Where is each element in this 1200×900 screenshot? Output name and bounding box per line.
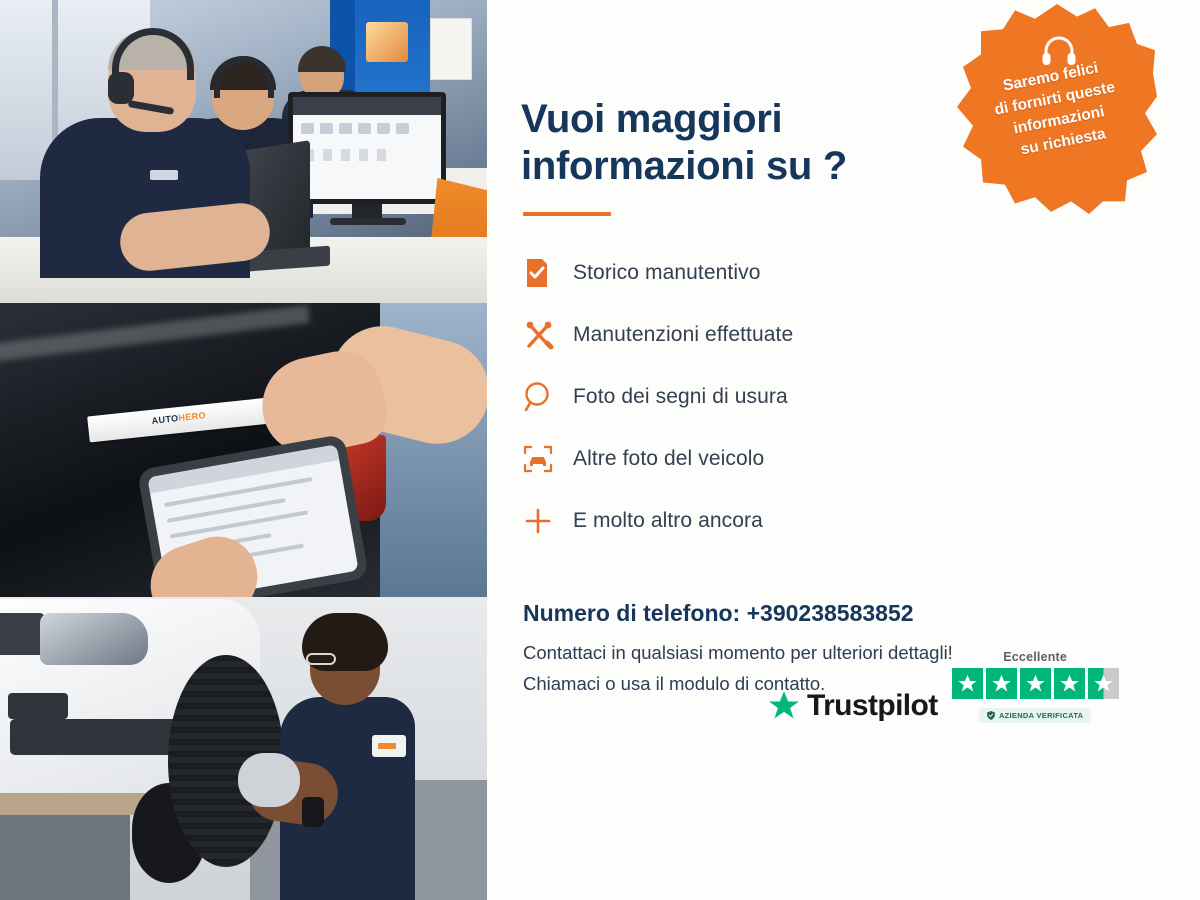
screen-icon-row-two bbox=[305, 149, 386, 161]
trustpilot-rating: Eccellente bbox=[952, 650, 1119, 723]
trustpilot-block: Trustpilot Eccellente bbox=[767, 650, 1119, 723]
car-lower-vent bbox=[8, 693, 68, 719]
poster-image bbox=[366, 22, 408, 62]
mechanic-glasses bbox=[306, 653, 336, 665]
feature-item-foto-usura: Foto dei segni di usura bbox=[523, 370, 1200, 424]
feature-item-altro: E molto altro ancora bbox=[523, 494, 1200, 548]
agent-one-shirt-logo bbox=[150, 170, 178, 180]
plus-icon bbox=[523, 506, 573, 536]
feature-item-manutenzioni: Manutenzioni effettuate bbox=[523, 308, 1200, 362]
feature-item-altre-foto: Altre foto del veicolo bbox=[523, 432, 1200, 486]
promo-page: AUTOHERO bbox=[0, 0, 1200, 900]
car-lower-grille bbox=[10, 719, 185, 755]
feature-label: Storico manutentivo bbox=[573, 261, 761, 285]
star-4 bbox=[1054, 668, 1085, 699]
feature-label: Manutenzioni effettuate bbox=[573, 323, 793, 347]
verified-company-badge: AZIENDA VERIFICATA bbox=[979, 708, 1091, 723]
title-divider bbox=[523, 212, 611, 216]
phone-number-line[interactable]: Numero di telefono: +390238583852 bbox=[523, 600, 1200, 627]
star-3 bbox=[1020, 668, 1051, 699]
trustpilot-logo: Trustpilot bbox=[767, 689, 938, 723]
car-headlamp bbox=[40, 613, 148, 665]
rating-label: Eccellente bbox=[1003, 650, 1067, 664]
mechanic-sleeve-logo bbox=[372, 735, 406, 757]
content-panel: Vuoi maggiori informazioni su ? Storico … bbox=[487, 0, 1200, 900]
car-grille bbox=[0, 613, 44, 655]
photo-column: AUTOHERO bbox=[0, 0, 487, 900]
workshop-cabinet-left bbox=[0, 804, 130, 900]
mechanic-watch bbox=[302, 797, 324, 827]
desktop-monitor bbox=[288, 92, 446, 204]
star-rating bbox=[952, 668, 1119, 699]
monitor-screen bbox=[293, 97, 441, 199]
vehicle-inspection-photo: AUTOHERO bbox=[0, 303, 487, 597]
feature-label: Foto dei segni di usura bbox=[573, 385, 788, 409]
magnifier-icon bbox=[523, 381, 573, 413]
mechanic-tire-photo bbox=[0, 597, 487, 900]
mechanic-glove bbox=[238, 753, 300, 807]
shield-check-icon bbox=[987, 711, 995, 720]
wall-document bbox=[430, 18, 472, 80]
trustpilot-wordmark: Trustpilot bbox=[807, 689, 938, 723]
car-scan-icon bbox=[523, 444, 573, 474]
verified-label: AZIENDA VERIFICATA bbox=[999, 711, 1083, 720]
trustpilot-star-icon bbox=[767, 689, 801, 723]
feature-list: Storico manutentivo Manutenzioni effettu… bbox=[523, 246, 1200, 548]
star-1 bbox=[952, 668, 983, 699]
tools-icon bbox=[523, 319, 573, 351]
support-badge: Saremo felici di fornirti queste informa… bbox=[957, 4, 1157, 214]
star-5-half bbox=[1088, 668, 1119, 699]
monitor-base bbox=[330, 218, 406, 225]
star-2 bbox=[986, 668, 1017, 699]
page-title: Vuoi maggiori informazioni su ? bbox=[521, 96, 951, 190]
screen-icon-row bbox=[301, 123, 409, 134]
feature-label: E molto altro ancora bbox=[573, 509, 763, 533]
call-center-agents-photo bbox=[0, 0, 487, 303]
agent-one-headset-cup bbox=[108, 72, 134, 104]
checklist-icon bbox=[523, 257, 573, 289]
feature-label: Altre foto del veicolo bbox=[573, 447, 764, 471]
feature-item-storico: Storico manutentivo bbox=[523, 246, 1200, 300]
